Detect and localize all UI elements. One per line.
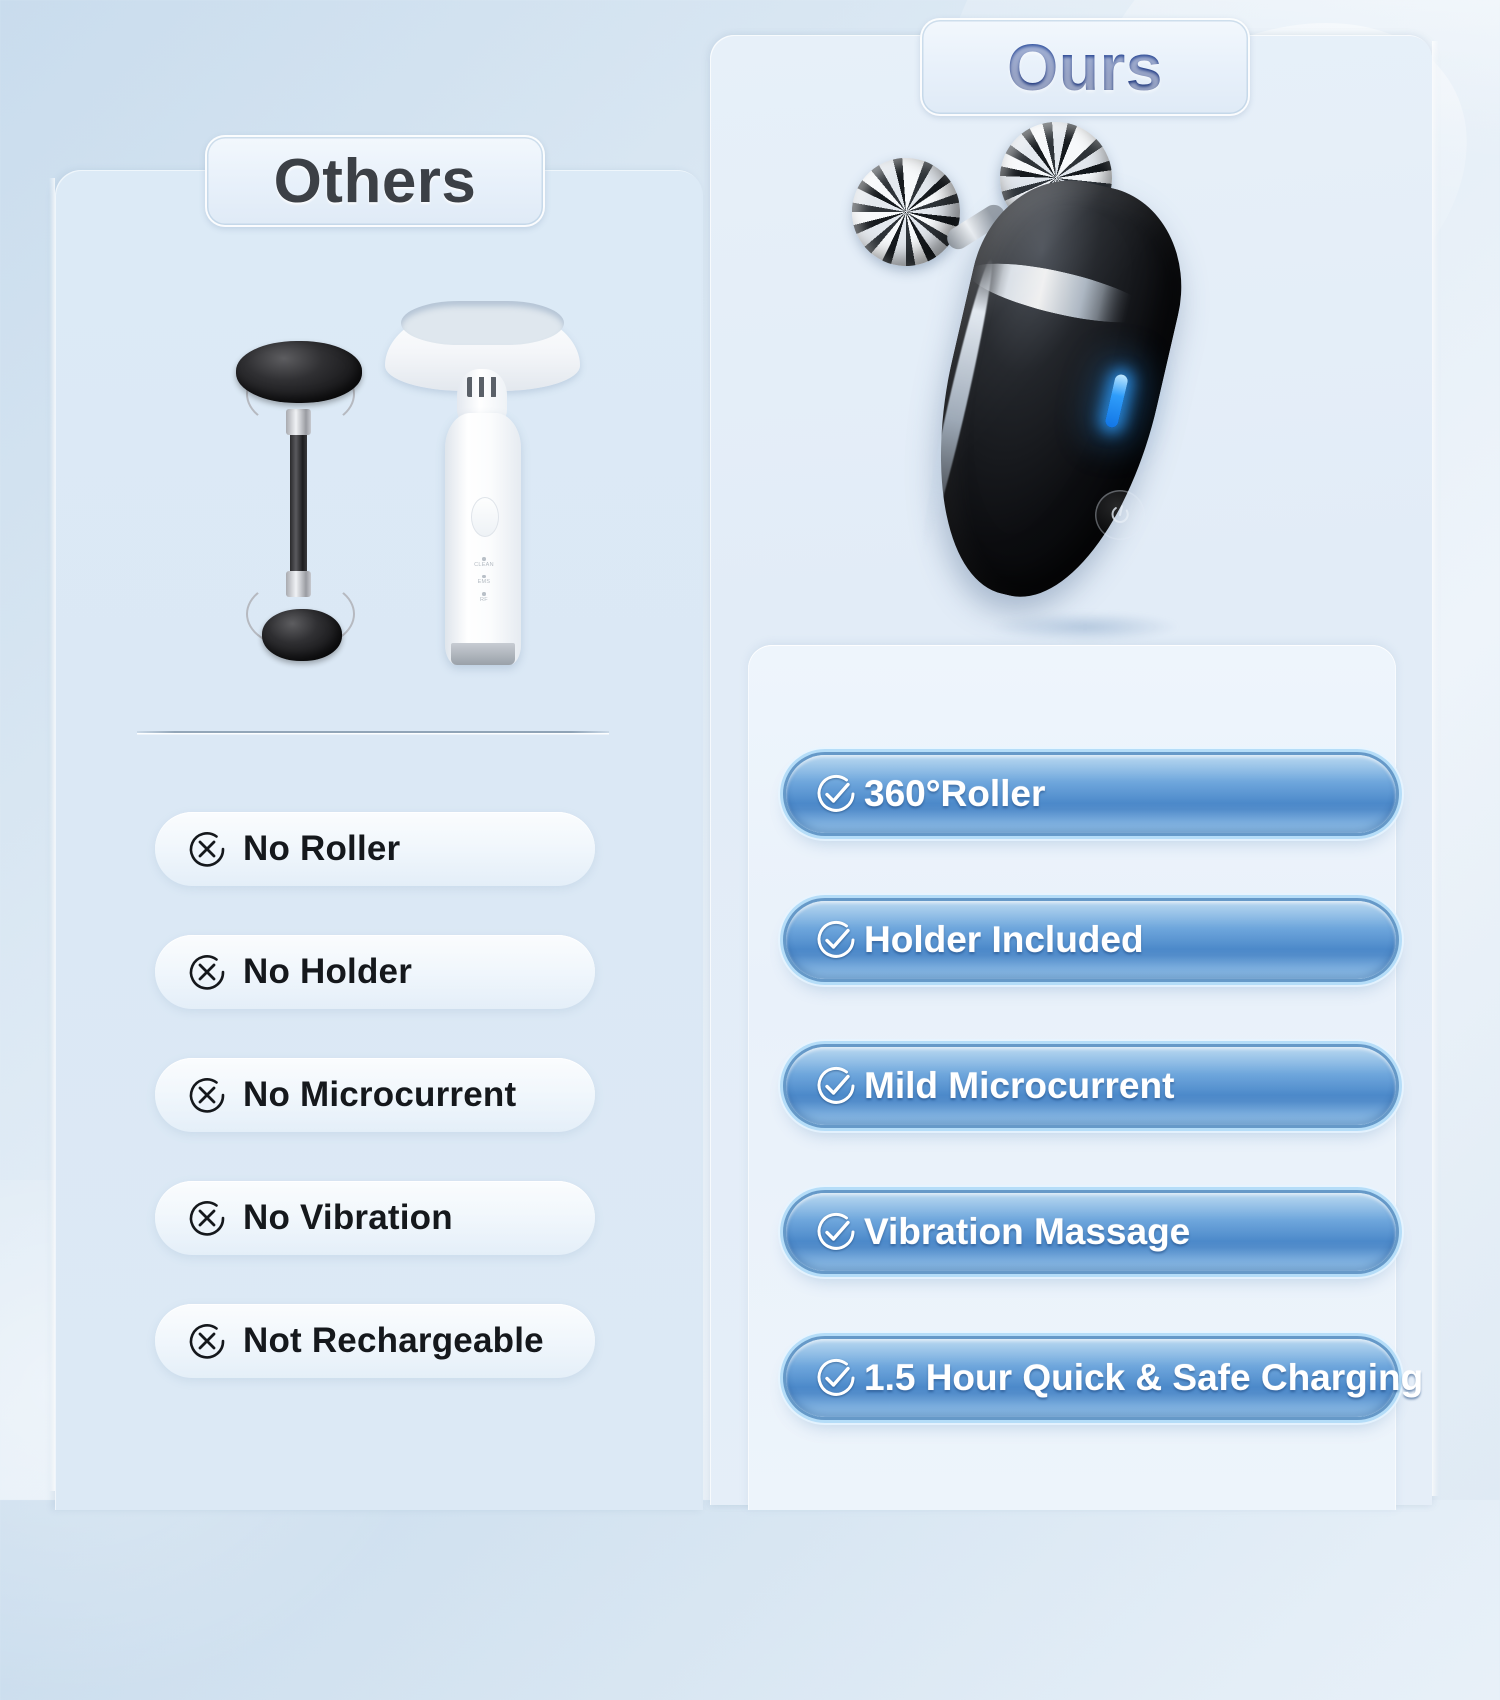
ours-feature-label: 1.5 Hour Quick & Safe Charging — [864, 1357, 1423, 1399]
others-feature-list: No Roller No Holder No Microcurrent No V… — [155, 812, 595, 1427]
others-feature-label: No Microcurrent — [243, 1075, 516, 1115]
roller-ball-left — [841, 147, 972, 278]
others-badge-label: Others — [274, 146, 477, 217]
mode-label-ems: EMS — [478, 579, 491, 585]
neck-device-vents — [467, 377, 497, 397]
others-feature-label: No Vibration — [243, 1198, 453, 1238]
others-feature-label: No Roller — [243, 829, 400, 869]
neck-device-base — [451, 643, 515, 665]
ours-feature-item-2[interactable]: Mild Microcurrent — [786, 1047, 1396, 1125]
roller-stone-small — [262, 609, 342, 661]
mode-dot-icon — [482, 557, 486, 561]
power-icon — [1104, 499, 1135, 530]
neck-device-body — [445, 413, 521, 665]
ours-feature-label: Holder Included — [864, 919, 1144, 961]
mode-indicator-ems: EMS — [463, 575, 505, 586]
circle-x-icon — [185, 1319, 229, 1363]
others-feature-item-3[interactable]: No Vibration — [155, 1181, 595, 1255]
neck-beauty-device-image: CLEAN EMS RF — [385, 305, 580, 685]
ours-badge-label: Ours — [1007, 29, 1163, 105]
others-feature-item-0[interactable]: No Roller — [155, 812, 595, 886]
circle-check-icon — [812, 1062, 860, 1110]
others-feature-label: No Holder — [243, 952, 412, 992]
mode-label-clean: CLEAN — [474, 562, 494, 568]
ours-feature-item-3[interactable]: Vibration Massage — [786, 1193, 1396, 1271]
others-product-images: CLEAN EMS RF — [190, 285, 610, 685]
mode-dot-icon — [482, 592, 486, 596]
neck-device-power-button — [471, 497, 499, 537]
others-feature-item-2[interactable]: No Microcurrent — [155, 1058, 595, 1132]
ours-product-image — [840, 120, 1260, 650]
ours-feature-item-4[interactable]: 1.5 Hour Quick & Safe Charging — [786, 1339, 1396, 1417]
ours-feature-list: 360°Roller Holder Included Mild Microcur… — [786, 755, 1396, 1485]
ours-feature-label: 360°Roller — [864, 773, 1045, 815]
circle-check-icon — [812, 1208, 860, 1256]
circle-x-icon — [185, 1073, 229, 1117]
mode-label-rf: RF — [480, 597, 488, 603]
mode-indicator-clean: CLEAN — [463, 557, 505, 568]
roller-stone-large — [236, 341, 362, 403]
neck-device-mode-indicators: CLEAN EMS RF — [463, 557, 505, 610]
others-feature-label: Not Rechargeable — [243, 1321, 544, 1361]
circle-x-icon — [185, 827, 229, 871]
jade-roller-image — [218, 333, 378, 663]
device-drop-shadow — [990, 612, 1180, 642]
circle-check-icon — [812, 916, 860, 964]
others-feature-item-1[interactable]: No Holder — [155, 935, 595, 1009]
others-badge: Others — [205, 135, 545, 227]
circle-check-icon — [812, 1354, 860, 1402]
ours-feature-item-0[interactable]: 360°Roller — [786, 755, 1396, 833]
circle-check-icon — [812, 770, 860, 818]
mode-dot-icon — [482, 575, 486, 579]
ours-feature-label: Vibration Massage — [864, 1211, 1190, 1253]
ours-badge: Ours — [920, 18, 1250, 116]
roller-handle — [290, 429, 307, 579]
others-divider — [137, 731, 609, 733]
roller-ferrule-bottom — [286, 571, 311, 597]
mode-indicator-rf: RF — [463, 592, 505, 603]
roller-ferrule-top — [286, 409, 311, 435]
circle-x-icon — [185, 950, 229, 994]
circle-x-icon — [185, 1196, 229, 1240]
others-feature-item-4[interactable]: Not Rechargeable — [155, 1304, 595, 1378]
ours-feature-item-1[interactable]: Holder Included — [786, 901, 1396, 979]
ours-feature-label: Mild Microcurrent — [864, 1065, 1174, 1107]
